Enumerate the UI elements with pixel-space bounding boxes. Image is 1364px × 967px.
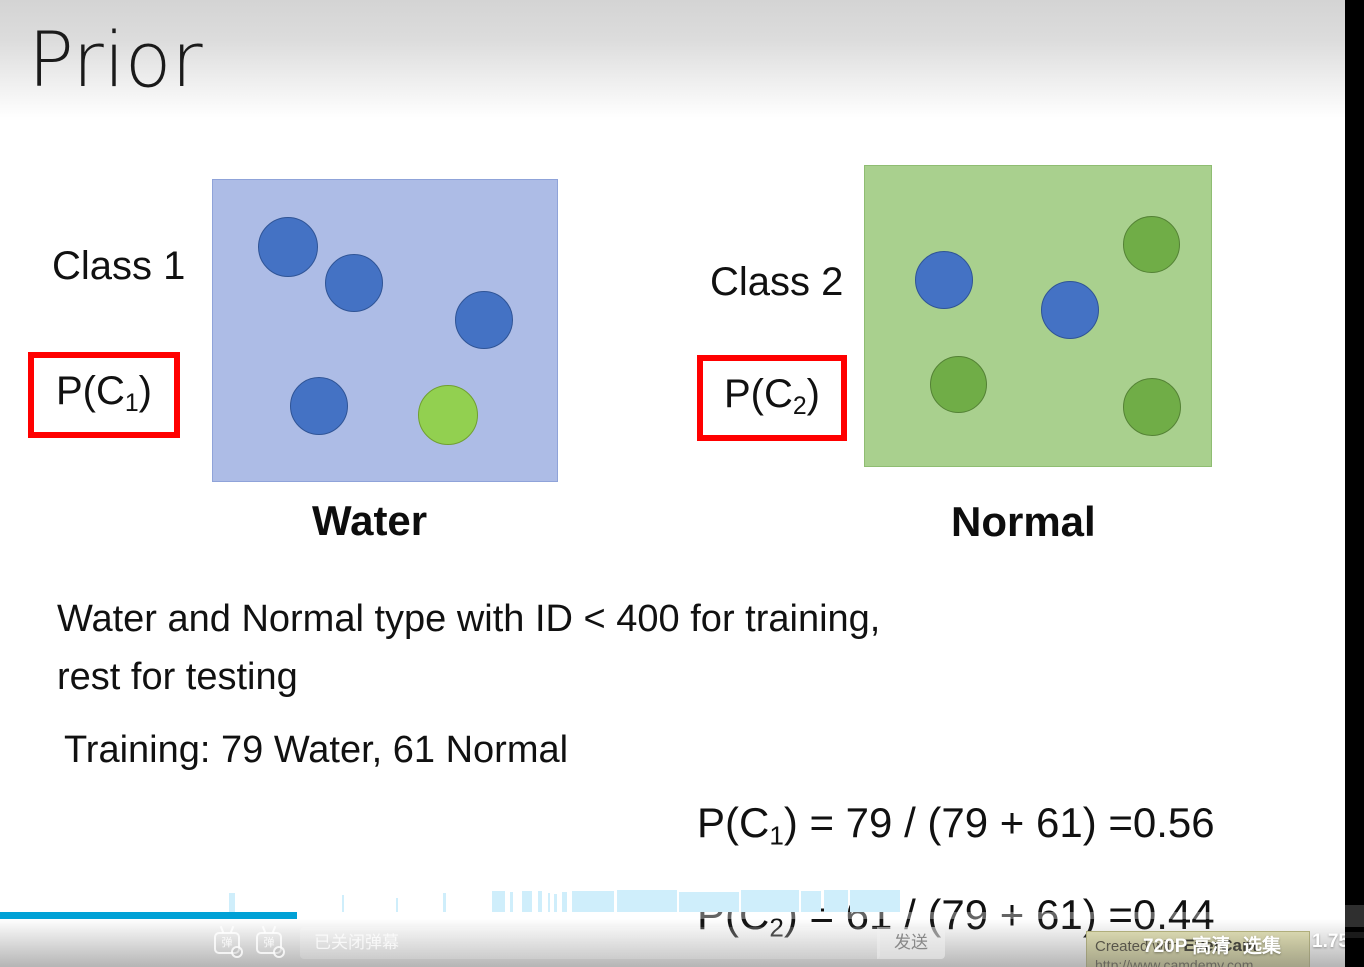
heatmap-segment: [538, 891, 542, 912]
heatmap-segment: [617, 890, 677, 912]
heatmap-segment: [342, 895, 344, 912]
normal-sample-dot-blue: [1041, 281, 1099, 339]
danmaku-off-icon[interactable]: 弹: [214, 932, 240, 954]
heatmap-segment: [492, 891, 505, 912]
danmaku-settings-icon[interactable]: 弹: [256, 932, 282, 954]
normal-sample-box: [864, 165, 1212, 467]
heatmap-segment: [554, 894, 557, 912]
description-line-1: Water and Normal type with ID < 400 for …: [57, 591, 880, 648]
water-sample-dot-blue: [258, 217, 318, 277]
edge-panel-upper: [1345, 905, 1364, 927]
heatmap-segment: [548, 893, 550, 912]
heatmap-segment: [443, 893, 446, 912]
right-dark-edge: [1345, 0, 1364, 967]
prior-c2-formula: P(C2): [724, 374, 820, 422]
class-1-label: Class 1: [52, 244, 185, 289]
danmaku-input[interactable]: 已关闭弹幕: [300, 927, 880, 959]
quality-selector[interactable]: 720P 高清: [1143, 931, 1230, 958]
normal-sample-dot-green: [1123, 216, 1180, 273]
equation-prior-c1: P(C1) = 79 / (79 + 61) =0.56: [697, 802, 1215, 848]
water-sample-box: [212, 179, 558, 482]
danmaku-settings-badge: [273, 946, 285, 958]
episode-list-button[interactable]: 选集: [1243, 931, 1281, 958]
prior-c1-highlight-box: P(C1): [28, 352, 180, 438]
edge-panel-lower: [1345, 932, 1364, 938]
heatmap-segment: [396, 898, 398, 912]
water-sample-dot-blue: [455, 291, 513, 349]
page-title: Prior: [28, 22, 203, 98]
water-sample-dot-light-green: [418, 385, 478, 445]
heatmap-segment: [229, 893, 235, 912]
prior-c2-highlight-box: P(C2): [697, 355, 847, 441]
slide-canvas: Prior Class 1 P(C1) Water Class 2 P(C2) …: [0, 0, 1345, 967]
heatmap-segment: [562, 892, 567, 912]
class-2-label: Class 2: [710, 260, 843, 305]
progress-bar-played[interactable]: [0, 912, 297, 919]
prior-c1-formula: P(C1): [56, 371, 152, 419]
water-sample-dot-blue: [325, 254, 383, 312]
normal-sample-dot-green: [930, 356, 987, 413]
normal-sample-dot-green: [1123, 378, 1181, 436]
heatmap-segment: [510, 892, 513, 912]
training-counts-line: Training: 79 Water, 61 Normal: [64, 722, 568, 779]
description-line-2: rest for testing: [57, 649, 298, 706]
water-caption: Water: [312, 497, 427, 545]
heatmap-segment: [522, 891, 532, 912]
danmaku-off-badge: [231, 946, 243, 958]
player-control-bar: 弹 弹 已关闭弹幕 发送 720P 高清 选集 1.75x: [0, 919, 1345, 967]
video-player-screen: Prior Class 1 P(C1) Water Class 2 P(C2) …: [0, 0, 1364, 967]
send-danmaku-button[interactable]: 发送: [877, 927, 945, 959]
normal-caption: Normal: [951, 498, 1096, 546]
heatmap-segment: [572, 891, 614, 912]
playback-speed-button[interactable]: 1.75x: [1312, 931, 1345, 953]
water-sample-dot-blue: [290, 377, 348, 435]
normal-sample-dot-blue: [915, 251, 973, 309]
